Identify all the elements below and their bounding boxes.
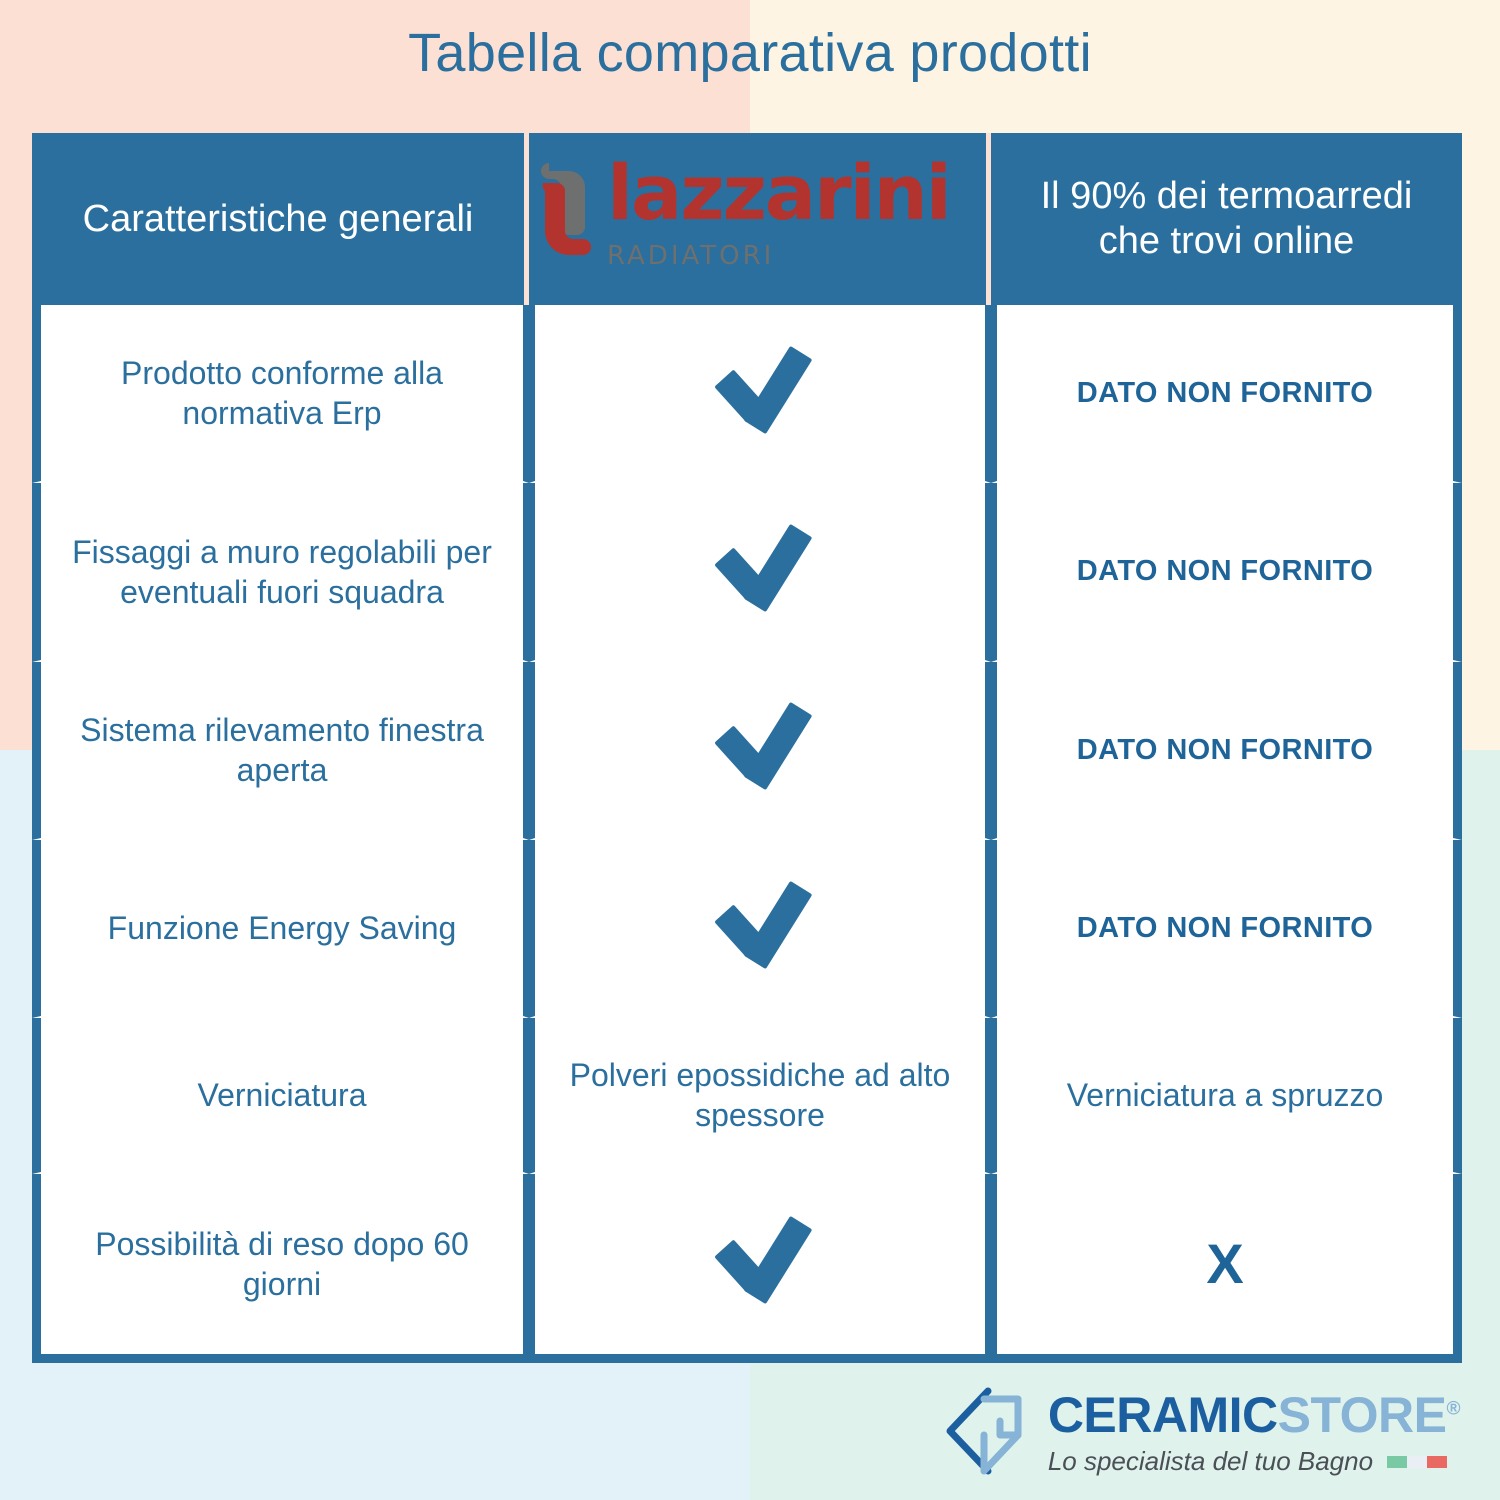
ceramicstore-tagline: Lo specialista del tuo Bagno bbox=[1048, 1446, 1373, 1477]
lazzarini-wordmark: lazzarini RADIATORI bbox=[607, 157, 986, 275]
table-row: Possibilità di reso dopo 60 giorni X bbox=[32, 1174, 1462, 1363]
check-icon bbox=[717, 1216, 803, 1302]
row-brand-value: Polveri epossidiche ad alto spessore bbox=[529, 1018, 991, 1173]
italian-flag-icon bbox=[1387, 1456, 1447, 1468]
column-header-other: Il 90% dei termoarredi che trovi online bbox=[991, 133, 1462, 305]
row-brand-value bbox=[529, 840, 991, 1018]
column-header-brand: lazzarini RADIATORI bbox=[529, 133, 991, 305]
row-brand-value bbox=[529, 305, 991, 483]
ceramicstore-logo: CERAMICSTORE® Lo specialista del tuo Bag… bbox=[940, 1385, 1460, 1482]
row-brand-value bbox=[529, 483, 991, 661]
row-brand-value bbox=[529, 662, 991, 840]
row-feature-label: Sistema rilevamento finestra aperta bbox=[32, 662, 529, 840]
ceramicstore-mark-icon bbox=[940, 1385, 1032, 1482]
lazzarini-mark-icon bbox=[529, 163, 591, 270]
row-feature-label: Fissaggi a muro regolabili per eventuali… bbox=[32, 483, 529, 661]
check-icon bbox=[717, 702, 803, 788]
ceramicstore-word-primary: CERAMIC bbox=[1048, 1387, 1278, 1443]
row-other-value: DATO NON FORNITO bbox=[991, 305, 1462, 483]
row-feature-label: Funzione Energy Saving bbox=[32, 840, 529, 1018]
row-feature-label: Prodotto conforme alla normativa Erp bbox=[32, 305, 529, 483]
check-icon bbox=[717, 346, 803, 432]
row-other-value: DATO NON FORNITO bbox=[991, 483, 1462, 661]
table-body: Prodotto conforme alla normativa Erp DAT… bbox=[32, 305, 1462, 1363]
row-other-value: Verniciatura a spruzzo bbox=[991, 1018, 1462, 1173]
table-header: Caratteristiche generali lazzarini RADIA… bbox=[32, 133, 1462, 305]
table-row: Prodotto conforme alla normativa Erp DAT… bbox=[32, 305, 1462, 483]
check-icon bbox=[717, 881, 803, 967]
ceramicstore-wordmark: CERAMICSTORE® bbox=[1048, 1390, 1460, 1440]
table-row: Fissaggi a muro regolabili per eventuali… bbox=[32, 483, 1462, 661]
lazzarini-subtitle: RADIATORI bbox=[607, 241, 774, 271]
table-row: Funzione Energy Saving DATO NON FORNITO bbox=[32, 840, 1462, 1018]
ceramicstore-tagline-row: Lo specialista del tuo Bagno bbox=[1048, 1446, 1460, 1477]
row-other-value: DATO NON FORNITO bbox=[991, 662, 1462, 840]
page-title: Tabella comparativa prodotti bbox=[0, 24, 1500, 83]
row-other-value: DATO NON FORNITO bbox=[991, 840, 1462, 1018]
column-header-feature: Caratteristiche generali bbox=[32, 133, 529, 305]
table-row: Sistema rilevamento finestra aperta DATO… bbox=[32, 662, 1462, 840]
registered-mark-icon: ® bbox=[1447, 1398, 1461, 1419]
ceramicstore-text-block: CERAMICSTORE® Lo specialista del tuo Bag… bbox=[1048, 1390, 1460, 1477]
ceramicstore-word-secondary: STORE bbox=[1278, 1387, 1447, 1443]
cross-icon: X bbox=[1206, 1236, 1243, 1292]
comparison-table: Caratteristiche generali lazzarini RADIA… bbox=[32, 133, 1462, 1363]
row-feature-label: Possibilità di reso dopo 60 giorni bbox=[32, 1174, 529, 1363]
row-feature-label: Verniciatura bbox=[32, 1018, 529, 1173]
row-other-value: X bbox=[991, 1174, 1462, 1363]
lazzarini-logo: lazzarini RADIATORI bbox=[529, 130, 986, 308]
header-row: Caratteristiche generali lazzarini RADIA… bbox=[32, 133, 1462, 305]
row-brand-value bbox=[529, 1174, 991, 1363]
table-row: Verniciatura Polveri epossidiche ad alto… bbox=[32, 1018, 1462, 1173]
check-icon bbox=[717, 524, 803, 610]
lazzarini-name: lazzarini bbox=[607, 148, 950, 237]
